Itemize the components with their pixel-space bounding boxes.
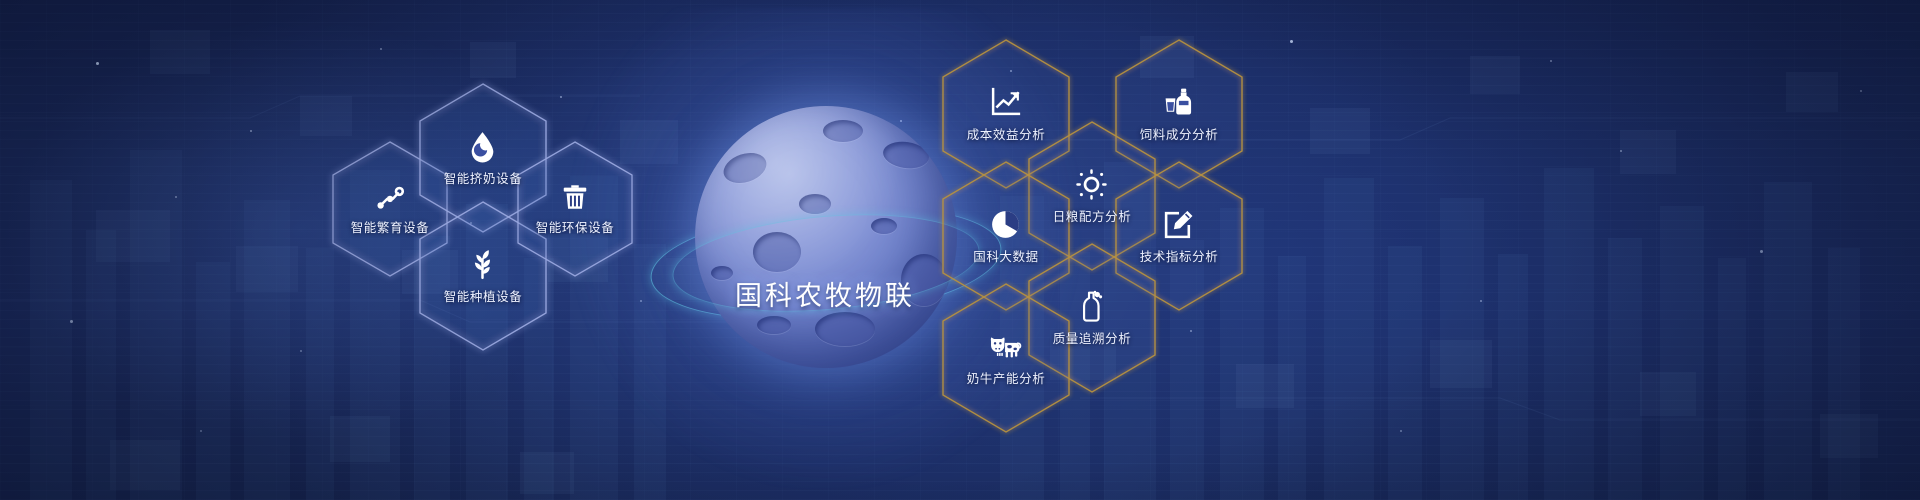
hex-label: 智能环保设备 <box>536 217 615 236</box>
bottle-icon <box>1075 290 1108 323</box>
trash-icon <box>560 182 590 212</box>
hex-label: 质量追溯分析 <box>1053 328 1132 347</box>
line-chart-icon <box>989 86 1022 119</box>
hero-banner: 国科农牧物联 <box>0 0 1920 500</box>
nodes-icon <box>375 182 405 212</box>
hex-label: 日粮配方分析 <box>1053 206 1132 225</box>
hex-tile-environment[interactable]: 智能环保设备 <box>515 140 635 278</box>
milk-bottle-cup-icon <box>1162 86 1195 119</box>
hex-label: 饲料成分分析 <box>1140 124 1219 143</box>
hex-label: 智能挤奶设备 <box>444 168 523 187</box>
hex-label: 奶牛产能分析 <box>967 368 1046 387</box>
cow-icon <box>989 330 1022 363</box>
hex-label: 智能种植设备 <box>444 286 523 305</box>
hex-label: 技术指标分析 <box>1140 246 1219 265</box>
hex-label: 国科大数据 <box>973 246 1039 265</box>
hex-label: 成本效益分析 <box>967 124 1046 143</box>
hex-label: 智能繁育设备 <box>351 217 430 236</box>
sun-icon <box>1075 168 1108 201</box>
edit-square-icon <box>1162 208 1195 241</box>
plant-icon <box>466 248 499 281</box>
droplet-icon <box>466 130 499 163</box>
pie-chart-icon <box>989 208 1022 241</box>
